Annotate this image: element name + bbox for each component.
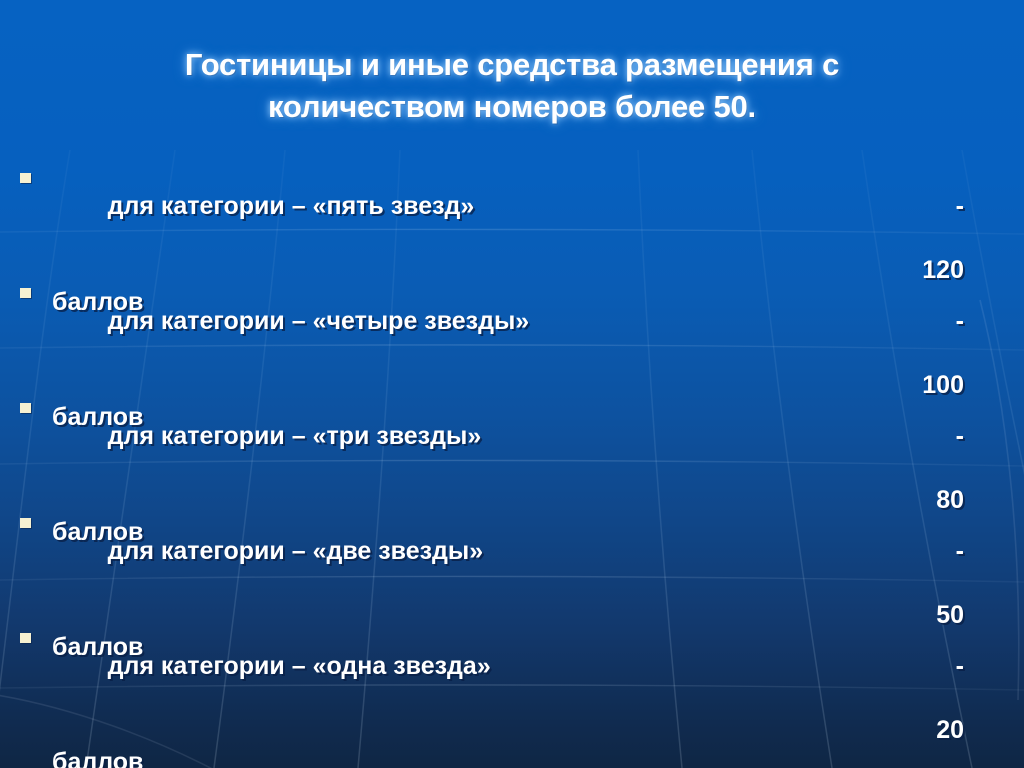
square-bullet-icon <box>20 403 31 413</box>
list-item-separator: - <box>956 652 964 680</box>
presentation-slide: Гостиницы и иные средства размещения с к… <box>0 0 1024 768</box>
square-bullet-icon <box>20 633 31 643</box>
list-item: для категории – «четыре звезды» - 100 ба… <box>0 273 1024 388</box>
list-item-label: для категории – «четыре звезды» <box>108 307 530 335</box>
list-item-label: для категории – «пять звезд» <box>108 192 475 220</box>
list-item: для категории – «три звезды» - 80 баллов <box>0 388 1024 503</box>
bullet-list: для категории – «пять звезд» - 120 балло… <box>0 158 1024 700</box>
slide-title: Гостиницы и иные средства размещения с к… <box>48 44 976 128</box>
list-item: для категории – «пять звезд» - 120 балло… <box>0 158 1024 273</box>
square-bullet-icon <box>20 518 31 528</box>
slide-title-line-2: количеством номеров более 50. <box>48 86 976 128</box>
square-bullet-icon <box>20 173 31 183</box>
square-bullet-icon <box>20 288 31 298</box>
list-item-separator: - <box>956 422 964 450</box>
list-item-separator: - <box>956 307 964 335</box>
footer-note: Допускается уменьшение требуемого количе… <box>6 696 1018 768</box>
list-item-label: для категории – «две звезды» <box>108 537 484 565</box>
slide-title-line-1: Гостиницы и иные средства размещения с <box>48 44 976 86</box>
list-item-separator: - <box>956 192 964 220</box>
list-item-label: для категории – «три звезды» <box>108 422 482 450</box>
list-item-label: для категории – «одна звезда» <box>108 652 491 680</box>
list-item-separator: - <box>956 537 964 565</box>
list-item: для категории – «две звезды» - 50 баллов <box>0 503 1024 618</box>
list-item: для категории – «одна звезда» - 20 балло… <box>0 618 1024 700</box>
